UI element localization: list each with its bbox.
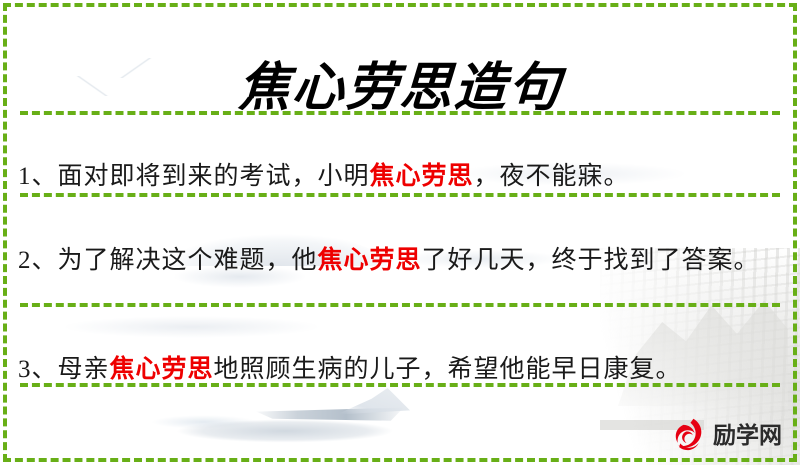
highlighted-idiom: 焦心劳思	[318, 247, 422, 274]
sentence-text-after: ，夜不能寐。	[474, 163, 630, 190]
sentence-text-after: 地照顾生病的儿子，希望他能早日康复。	[214, 356, 682, 383]
divider-line	[20, 111, 780, 115]
sentence-number: 1、	[18, 163, 58, 190]
highlighted-idiom: 焦心劳思	[370, 163, 474, 190]
sentence-number: 3、	[18, 356, 58, 383]
sentence-text-before: 为了解决这个难题，他	[58, 247, 318, 274]
sentence-item-1: 1、面对即将到来的考试，小明焦心劳思，夜不能寐。	[18, 157, 778, 196]
site-watermark-logo: 励学网	[668, 415, 782, 455]
divider-line	[20, 383, 780, 387]
sentence-text-before: 母亲	[58, 356, 110, 383]
highlighted-idiom: 焦心劳思	[110, 356, 214, 383]
site-name-label: 励学网	[713, 424, 782, 447]
flame-swirl-logo-icon	[668, 415, 708, 455]
sentence-text-after: 了好几天，终于找到了答案。	[422, 247, 760, 274]
divider-line	[20, 193, 780, 197]
divider-line	[20, 303, 780, 307]
sentence-text-before: 面对即将到来的考试，小明	[58, 163, 370, 190]
sentence-card: 焦心劳思造句 1、面对即将到来的考试，小明焦心劳思，夜不能寐。 2、为了解决这个…	[0, 0, 800, 465]
sentence-number: 2、	[18, 247, 58, 274]
sentence-item-2: 2、为了解决这个难题，他焦心劳思了好几天，终于找到了答案。	[18, 241, 778, 280]
